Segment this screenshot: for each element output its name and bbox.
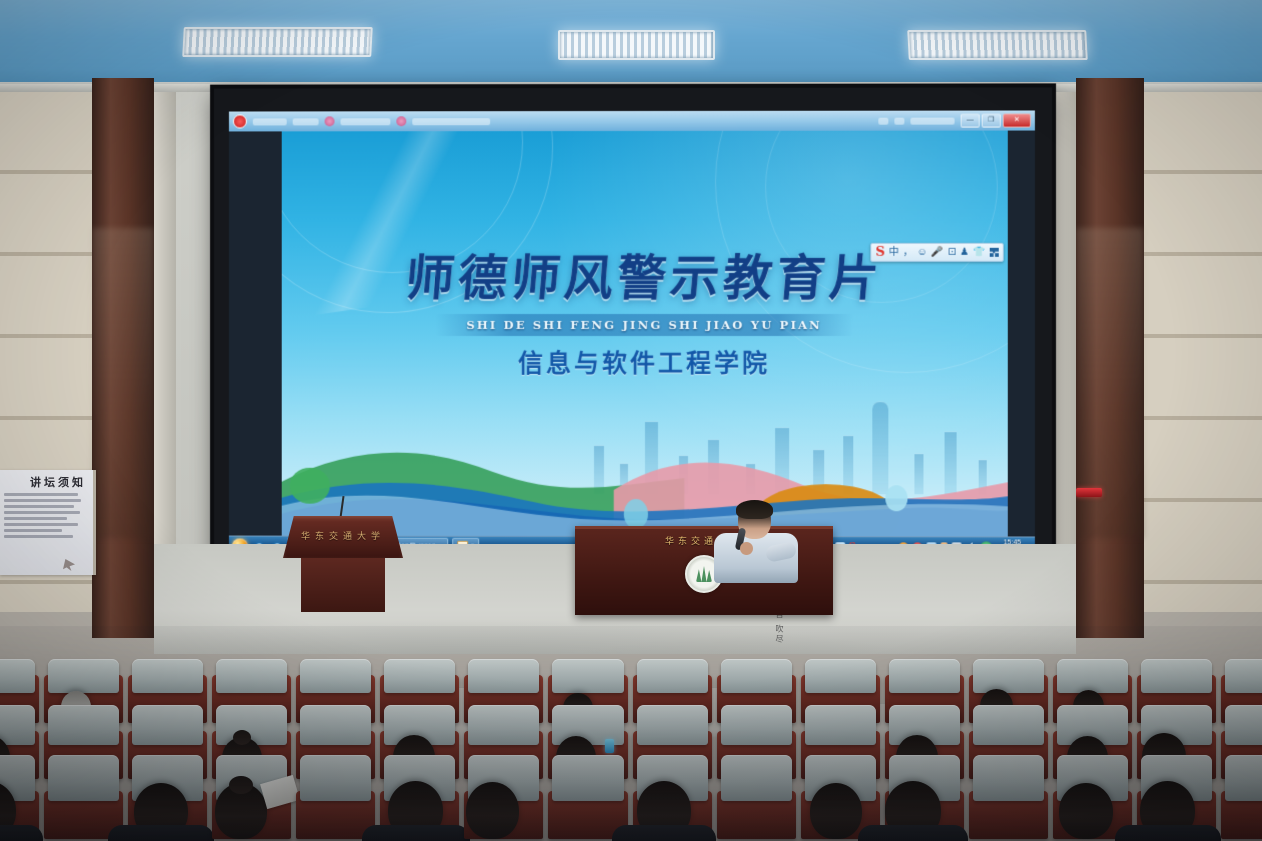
seat	[633, 755, 712, 839]
emergency-exit-button[interactable]	[1076, 488, 1102, 497]
wave-hills	[282, 386, 1008, 537]
ime-skin-icon[interactable]: 👕	[973, 246, 986, 259]
ime-menu-icon[interactable]	[990, 248, 999, 257]
podium-plaque: 华东交通大学	[283, 529, 403, 542]
window-minimize-button[interactable]: —	[961, 114, 980, 128]
slide-illustration	[282, 386, 1008, 537]
poster-title: 讲坛须知	[0, 474, 88, 490]
ceiling	[0, 0, 1262, 92]
sogou-logo-icon: S	[875, 246, 884, 259]
seal-icon	[63, 559, 75, 571]
bookmark-icon[interactable]	[325, 116, 335, 126]
lecture-hall-scene: 讲坛须知 —	[0, 0, 1262, 841]
seat	[885, 755, 964, 839]
presentation-slide: 师德师风警示教育片 SHI DE SHI FENG JING SHI JIAO …	[282, 131, 1008, 537]
bookmark-icon[interactable]	[396, 116, 406, 126]
wall-poster: 讲坛须知	[0, 470, 96, 575]
seat	[548, 755, 627, 839]
seat-row	[0, 755, 1262, 839]
seat	[717, 755, 796, 839]
sogou-ime-toolbar[interactable]: S 中 ， ☺ 🎤 ⊡ ♟ 👕	[870, 243, 1003, 262]
seat	[1221, 755, 1262, 839]
letterbox-right	[1008, 131, 1035, 537]
browser-toolbar[interactable]: — ❐ ✕	[229, 110, 1035, 131]
seat	[0, 755, 39, 839]
phone-screen	[605, 739, 614, 753]
slide-subtitle: 信息与软件工程学院	[282, 344, 1008, 380]
seat	[44, 755, 123, 839]
app-logo-icon	[233, 114, 247, 128]
ceiling-light	[907, 30, 1088, 60]
projection-screen-frame: — ❐ ✕ 师德师风警示教育片 SHI DE SHI FENG	[214, 87, 1052, 574]
acoustic-panels-right	[1144, 92, 1262, 612]
slide-pinyin: SHI DE SHI FENG JING SHI JIAO YU PIAN	[435, 314, 853, 336]
ime-microphone-icon[interactable]: 🎤	[931, 246, 943, 259]
ceiling-light	[558, 30, 715, 60]
wood-column-left	[92, 78, 154, 638]
seat	[969, 755, 1048, 839]
projection-screen: — ❐ ✕ 师德师风警示教育片 SHI DE SHI FENG	[229, 110, 1035, 557]
slide-viewport: 师德师风警示教育片 SHI DE SHI FENG JING SHI JIAO …	[229, 131, 1035, 537]
seat	[296, 755, 375, 839]
window-restore-button[interactable]: ❐	[982, 114, 1001, 128]
ime-mode-icon[interactable]: 中	[889, 246, 899, 259]
seat	[464, 755, 543, 839]
seat	[1137, 755, 1216, 839]
ime-punctuation-icon[interactable]: ，	[903, 246, 913, 259]
ime-screenshot-icon[interactable]: ⊡	[948, 246, 956, 259]
seat	[212, 755, 291, 839]
ime-toolbox-icon[interactable]: ♟	[960, 246, 969, 259]
window-close-button[interactable]: ✕	[1003, 113, 1031, 127]
letterbox-left	[229, 131, 282, 535]
seat	[128, 755, 207, 839]
audience-seating	[0, 626, 1262, 841]
pinyin-band: SHI DE SHI FENG JING SHI JIAO YU PIAN	[435, 314, 853, 336]
wood-column-right	[1076, 78, 1144, 638]
podium: 华东交通大学	[283, 516, 403, 612]
seat	[380, 755, 459, 839]
speaker-person	[710, 502, 802, 582]
ime-emoji-icon[interactable]: ☺	[917, 246, 927, 259]
ceiling-light	[182, 27, 373, 57]
